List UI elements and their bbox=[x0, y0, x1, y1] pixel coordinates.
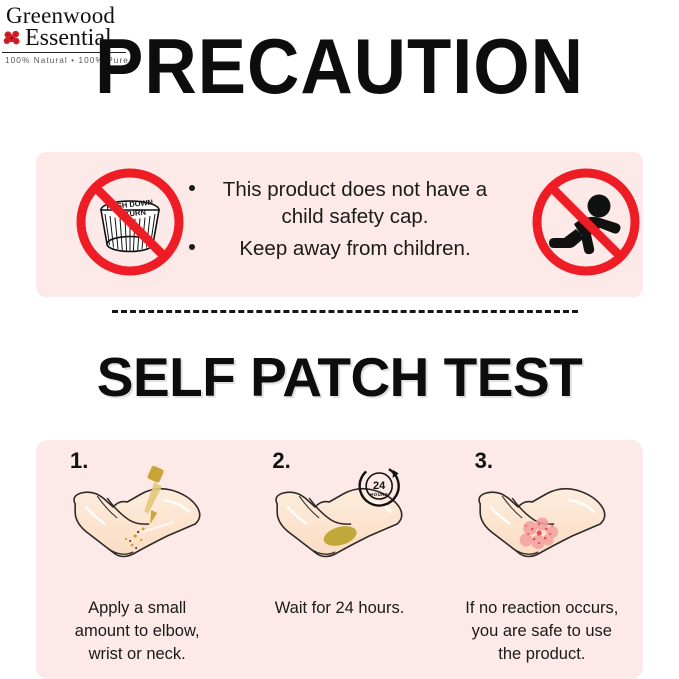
section-divider bbox=[112, 310, 578, 313]
precaution-bullet-1-line1: This product does not have a bbox=[185, 176, 525, 203]
svg-text:HOURS: HOURS bbox=[371, 492, 389, 497]
caption-line: the product. bbox=[449, 643, 635, 666]
step-caption: Apply a small amount to elbow, wrist or … bbox=[44, 597, 230, 665]
bullet-dot-icon bbox=[189, 185, 195, 191]
elbow-with-dropper-illustration bbox=[36, 462, 238, 582]
caption-line: amount to elbow, bbox=[44, 620, 230, 643]
caption-line: Wait for 24 hours. bbox=[246, 597, 432, 620]
caption-line: you are safe to use bbox=[449, 620, 635, 643]
precaution-bullet-1: This product does not have a child safet… bbox=[185, 176, 525, 231]
flower-icon bbox=[2, 28, 22, 48]
precaution-self-patch-test-page: Greenwood bbox=[0, 0, 679, 679]
caption-line: wrist or neck. bbox=[44, 643, 230, 666]
precaution-bullet-list: This product does not have a child safet… bbox=[185, 176, 525, 262]
no-child-safety-cap-icon: PUSH DOWN & TURN bbox=[74, 166, 186, 278]
precaution-bullet-2-line1: Keep away from children. bbox=[185, 235, 525, 262]
self-patch-test-steps: 1. bbox=[36, 440, 643, 679]
precaution-bullet-1-line2: child safety cap. bbox=[185, 203, 525, 230]
patch-step-1: 1. bbox=[36, 440, 238, 679]
bullet-dot-icon bbox=[189, 244, 195, 250]
elbow-with-rash-illustration bbox=[441, 462, 643, 582]
caption-line: Apply a small bbox=[44, 597, 230, 620]
step-caption: Wait for 24 hours. bbox=[246, 597, 432, 620]
precaution-bullet-2: Keep away from children. bbox=[185, 235, 525, 262]
page-title-precaution: PRECAUTION bbox=[24, 27, 655, 105]
svg-text:24: 24 bbox=[373, 480, 386, 492]
patch-step-3: 3. bbox=[441, 440, 643, 679]
caption-line: If no reaction occurs, bbox=[449, 597, 635, 620]
patch-step-2: 2. bbox=[238, 440, 440, 679]
page-title-self-patch-test: SELF PATCH TEST bbox=[0, 350, 679, 405]
no-children-icon bbox=[530, 166, 642, 278]
step-caption: If no reaction occurs, you are safe to u… bbox=[449, 597, 635, 665]
elbow-with-oil-patch-and-24h-clock-illustration: 24 HOURS bbox=[238, 462, 440, 582]
